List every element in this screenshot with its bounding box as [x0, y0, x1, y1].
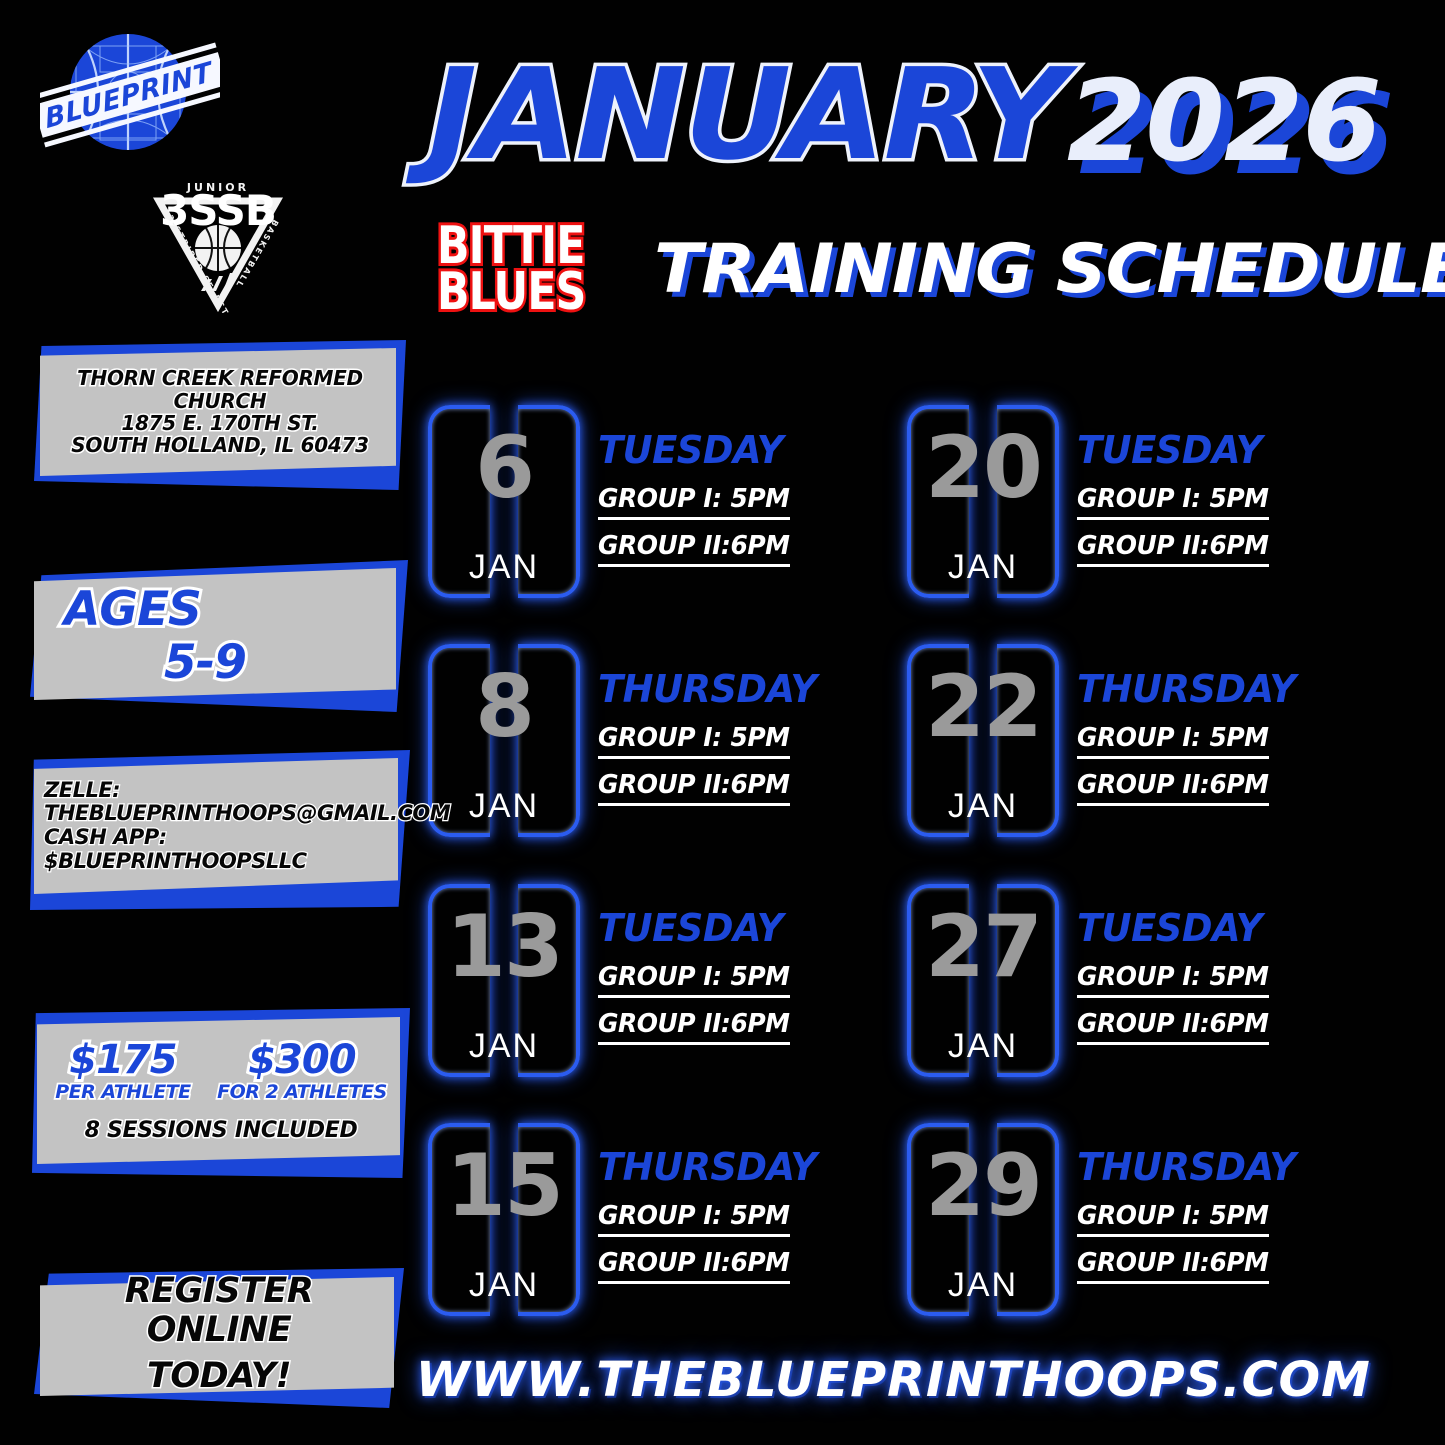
month-abbrev: JAN [469, 1029, 539, 1063]
date-box: 27 JAN [907, 884, 1059, 1077]
group-1-time: 5PM [1209, 723, 1268, 753]
pricing-card: $175 PER ATHLETE $300 FOR 2 ATHLETES 8 S… [32, 1008, 410, 1178]
venue-address-card: THORN CREEK REFORMED CHURCH 1875 E. 170T… [34, 340, 406, 490]
date-box: 20 JAN [907, 405, 1059, 598]
ages-label: AGES [64, 582, 374, 637]
day-number: 29 [925, 1143, 1041, 1229]
group-1-row: GROUP I: 5PM [598, 962, 790, 998]
group-1-row: GROUP I: 5PM [1077, 962, 1269, 998]
group-1-label: GROUP I: [598, 1201, 730, 1231]
group-2-row: GROUP II: 6PM [598, 770, 790, 806]
month-abbrev: JAN [948, 789, 1018, 823]
session-card[interactable]: 8 JAN THURSDAY GROUP I: 5PM GROUP II: 6P… [428, 632, 864, 849]
junior-3ssb-logo: JUNIOR 3SSB 3-STRIPED SELECT BASKETBALL [143, 163, 293, 313]
group-1-time: 5PM [730, 1201, 789, 1231]
group-2-time: 6PM [730, 531, 789, 561]
group-1-label: GROUP I: [1077, 1201, 1209, 1231]
date-box: 22 JAN [907, 644, 1059, 837]
group-1-label: GROUP I: [1077, 962, 1209, 992]
group-1-label: GROUP I: [598, 484, 730, 514]
session-card[interactable]: 27 JAN TUESDAY GROUP I: 5PM GROUP II: 6P… [907, 872, 1343, 1089]
training-schedule-grid: 6 JAN TUESDAY GROUP I: 5PM GROUP II: 6PM… [428, 393, 1343, 1328]
venue-street: 1875 E. 170TH ST. [52, 412, 388, 434]
zelle-label: ZELLE: [44, 779, 396, 803]
bittie-blues-logo: BITTIE BLUES [437, 224, 586, 316]
group-2-row: GROUP II: 6PM [598, 1009, 790, 1045]
group-2-time: 6PM [1209, 531, 1268, 561]
website-url[interactable]: WWW.THEBLUEPRINTHOOPS.COM [416, 1352, 1354, 1408]
month-abbrev: JAN [948, 1268, 1018, 1302]
register-cta-card[interactable]: REGISTER ONLINE TODAY! [34, 1268, 404, 1408]
group-2-time: 6PM [1209, 1009, 1268, 1039]
group-2-row: GROUP II: 6PM [598, 1248, 790, 1284]
session-card[interactable]: 6 JAN TUESDAY GROUP I: 5PM GROUP II: 6PM [428, 393, 864, 610]
date-box: 15 JAN [428, 1123, 580, 1316]
day-number: 13 [446, 904, 562, 990]
month-abbrev: JAN [469, 789, 539, 823]
weekday-label: THURSDAY [1077, 669, 1296, 711]
group-2-label: GROUP II: [1077, 1009, 1209, 1039]
weekday-label: TUESDAY [1077, 430, 1271, 472]
group-1-time: 5PM [1209, 484, 1268, 514]
group-2-row: GROUP II: 6PM [1077, 531, 1269, 567]
group-2-label: GROUP II: [1077, 770, 1209, 800]
group-2-label: GROUP II: [1077, 1248, 1209, 1278]
register-subline: TODAY! [48, 1357, 390, 1396]
group-2-label: GROUP II: [598, 770, 730, 800]
blueprint-hoops-logo: BLUEPRINT HOOPS [40, 22, 220, 172]
group-1-time: 5PM [730, 723, 789, 753]
register-headline: REGISTER ONLINE [48, 1272, 390, 1350]
day-number: 15 [446, 1143, 562, 1229]
payment-methods-card: ZELLE: THEBLUEPRINTHOOPS@GMAIL.COM CASH … [30, 750, 410, 910]
group-2-time: 6PM [1209, 770, 1268, 800]
day-number: 6 [475, 425, 533, 511]
page-title: TRAINING SCHEDULE [654, 230, 1445, 309]
session-card[interactable]: 15 JAN THURSDAY GROUP I: 5PM GROUP II: 6… [428, 1111, 864, 1328]
cashapp-handle: $BLUEPRINTHOOPSLLC [44, 850, 396, 874]
group-1-time: 5PM [1209, 962, 1268, 992]
group-2-label: GROUP II: [598, 1009, 730, 1039]
group-1-row: GROUP I: 5PM [598, 723, 790, 759]
venue-name: THORN CREEK REFORMED CHURCH [52, 367, 388, 412]
cashapp-label: CASH APP: [44, 826, 396, 850]
month-abbrev: JAN [469, 1268, 539, 1302]
sessions-included-note: 8 SESSIONS INCLUDED [48, 1119, 394, 1144]
group-1-time: 5PM [730, 962, 789, 992]
group-2-row: GROUP II: 6PM [1077, 770, 1269, 806]
month-year-title: JANUARY 2026 [425, 18, 1355, 178]
header: JANUARY 2026 BITTIE BLUES TRAINING SCHED… [425, 18, 1355, 328]
session-card[interactable]: 13 JAN TUESDAY GROUP I: 5PM GROUP II: 6P… [428, 872, 864, 1089]
group-2-row: GROUP II: 6PM [1077, 1248, 1269, 1284]
group-1-row: GROUP I: 5PM [598, 484, 790, 520]
month-abbrev: JAN [948, 550, 1018, 584]
group-2-row: GROUP II: 6PM [1077, 1009, 1269, 1045]
group-2-row: GROUP II: 6PM [598, 531, 790, 567]
group-2-time: 6PM [1209, 1248, 1268, 1278]
group-2-label: GROUP II: [598, 531, 730, 561]
date-box: 13 JAN [428, 884, 580, 1077]
ages-card: AGES 5-9 [30, 560, 408, 712]
day-number: 27 [925, 904, 1041, 990]
session-card[interactable]: 22 JAN THURSDAY GROUP I: 5PM GROUP II: 6… [907, 632, 1343, 849]
venue-city-state-zip: SOUTH HOLLAND, IL 60473 [52, 434, 388, 456]
session-card[interactable]: 20 JAN TUESDAY GROUP I: 5PM GROUP II: 6P… [907, 393, 1343, 610]
price-single: $175 PER ATHLETE [55, 1040, 190, 1103]
group-2-time: 6PM [730, 770, 789, 800]
group-1-label: GROUP I: [1077, 484, 1209, 514]
group-1-time: 5PM [1209, 1201, 1268, 1231]
group-2-label: GROUP II: [1077, 531, 1209, 561]
group-1-row: GROUP I: 5PM [1077, 723, 1269, 759]
session-card[interactable]: 29 JAN THURSDAY GROUP I: 5PM GROUP II: 6… [907, 1111, 1343, 1328]
group-1-time: 5PM [730, 484, 789, 514]
group-1-label: GROUP I: [598, 723, 730, 753]
price-single-label: PER ATHLETE [55, 1081, 190, 1103]
price-double-label: FOR 2 ATHLETES [217, 1081, 387, 1103]
month-abbrev: JAN [948, 1029, 1018, 1063]
weekday-label: THURSDAY [598, 669, 817, 711]
weekday-label: THURSDAY [598, 1147, 817, 1189]
date-box: 6 JAN [428, 405, 580, 598]
date-box: 8 JAN [428, 644, 580, 837]
group-1-label: GROUP I: [598, 962, 730, 992]
group-1-row: GROUP I: 5PM [1077, 484, 1269, 520]
month-abbrev: JAN [469, 550, 539, 584]
price-double: $300 FOR 2 ATHLETES [217, 1040, 387, 1103]
group-2-label: GROUP II: [598, 1248, 730, 1278]
group-2-time: 6PM [730, 1248, 789, 1278]
group-1-row: GROUP I: 5PM [1077, 1201, 1269, 1237]
month-label: JANUARY [428, 52, 1065, 178]
day-number: 22 [925, 664, 1041, 750]
weekday-label: THURSDAY [1077, 1147, 1296, 1189]
price-single-amount: $175 [69, 1040, 176, 1080]
ages-range: 5-9 [164, 635, 374, 690]
day-number: 8 [475, 664, 533, 750]
price-double-amount: $300 [248, 1040, 355, 1080]
weekday-label: TUESDAY [1077, 908, 1271, 950]
group-1-row: GROUP I: 5PM [598, 1201, 790, 1237]
zelle-email: THEBLUEPRINTHOOPS@GMAIL.COM [44, 802, 396, 826]
group-2-time: 6PM [730, 1009, 789, 1039]
date-box: 29 JAN [907, 1123, 1059, 1316]
group-1-label: GROUP I: [1077, 723, 1209, 753]
weekday-label: TUESDAY [598, 908, 792, 950]
day-number: 20 [925, 425, 1041, 511]
weekday-label: TUESDAY [598, 430, 792, 472]
year-label: 2026 [1067, 66, 1381, 178]
program-line-2: BLUES [437, 270, 586, 316]
